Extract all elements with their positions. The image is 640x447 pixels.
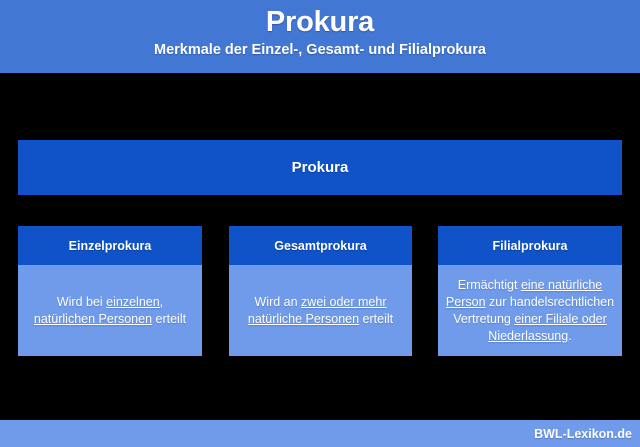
page-subtitle: Merkmale der Einzel-, Gesamt- und Filial… — [0, 40, 640, 60]
diagram-node-root: Prokura — [18, 140, 622, 195]
diagram-node-filialprokura-text: Ermächtigt eine natürliche Person zur ha… — [445, 277, 615, 345]
diagram-node-gesamtprokura-text: Wird an zwei oder mehr natürliche Person… — [236, 294, 405, 328]
header-banner: Prokura Merkmale der Einzel-, Gesamt- un… — [0, 0, 640, 73]
page-title: Prokura — [0, 4, 640, 40]
diagram-node-einzelprokura-text: Wird bei einzelnen, natürlichen Personen… — [25, 294, 195, 328]
diagram-node-gesamtprokura-header: Gesamtprokura — [229, 226, 412, 265]
diagram-node-root-label: Prokura — [292, 159, 349, 176]
diagram-node-filialprokura-label: Filialprokura — [492, 239, 567, 253]
footer-bar: BWL-Lexikon.de — [0, 420, 640, 447]
diagram-node-gesamtprokura: Gesamtprokura Wird an zwei oder mehr nat… — [229, 226, 412, 356]
diagram-node-filialprokura-body: Ermächtigt eine natürliche Person zur ha… — [438, 265, 622, 356]
diagram-node-einzelprokura-label: Einzelprokura — [69, 239, 152, 253]
diagram-node-filialprokura-header: Filialprokura — [438, 226, 622, 265]
footer-brand-label: BWL-Lexikon.de — [534, 427, 632, 441]
diagram-node-einzelprokura-header: Einzelprokura — [18, 226, 202, 265]
diagram-node-einzelprokura: Einzelprokura Wird bei einzelnen, natürl… — [18, 226, 202, 356]
diagram-node-filialprokura: Filialprokura Ermächtigt eine natürliche… — [438, 226, 622, 356]
diagram-node-einzelprokura-body: Wird bei einzelnen, natürlichen Personen… — [18, 265, 202, 356]
diagram-node-gesamtprokura-body: Wird an zwei oder mehr natürliche Person… — [229, 265, 412, 356]
diagram-node-gesamtprokura-label: Gesamtprokura — [274, 239, 366, 253]
diagram-canvas: Prokura Einzelprokura Wird bei einzelnen… — [0, 73, 640, 420]
